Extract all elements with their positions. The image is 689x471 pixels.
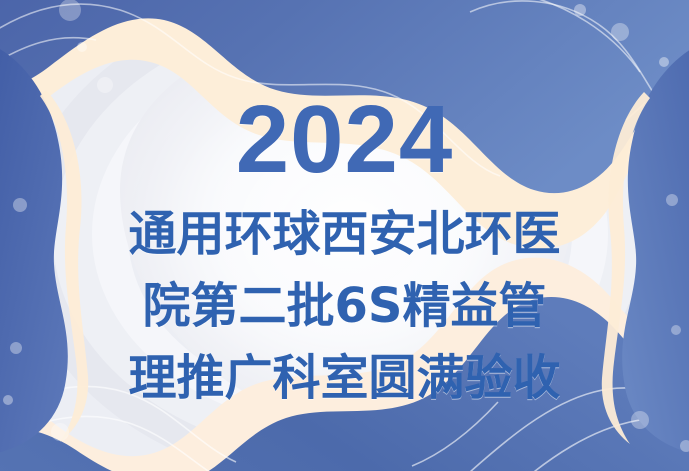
headline-line-1: 通用环球西安北环医 xyxy=(128,198,560,270)
headline-line-3: 理推广科室圆满验收 xyxy=(128,342,560,414)
headline-line-2: 院第二批6S精益管 xyxy=(143,270,547,342)
poster-text-block: 2024 通用环球西安北环医 院第二批6S精益管 理推广科室圆满验收 xyxy=(0,0,689,471)
poster-headline: 通用环球西安北环医 院第二批6S精益管 理推广科室圆满验收 xyxy=(128,198,560,414)
poster-canvas: 2024 通用环球西安北环医 院第二批6S精益管 理推广科室圆满验收 xyxy=(0,0,689,471)
poster-year: 2024 xyxy=(236,92,454,188)
